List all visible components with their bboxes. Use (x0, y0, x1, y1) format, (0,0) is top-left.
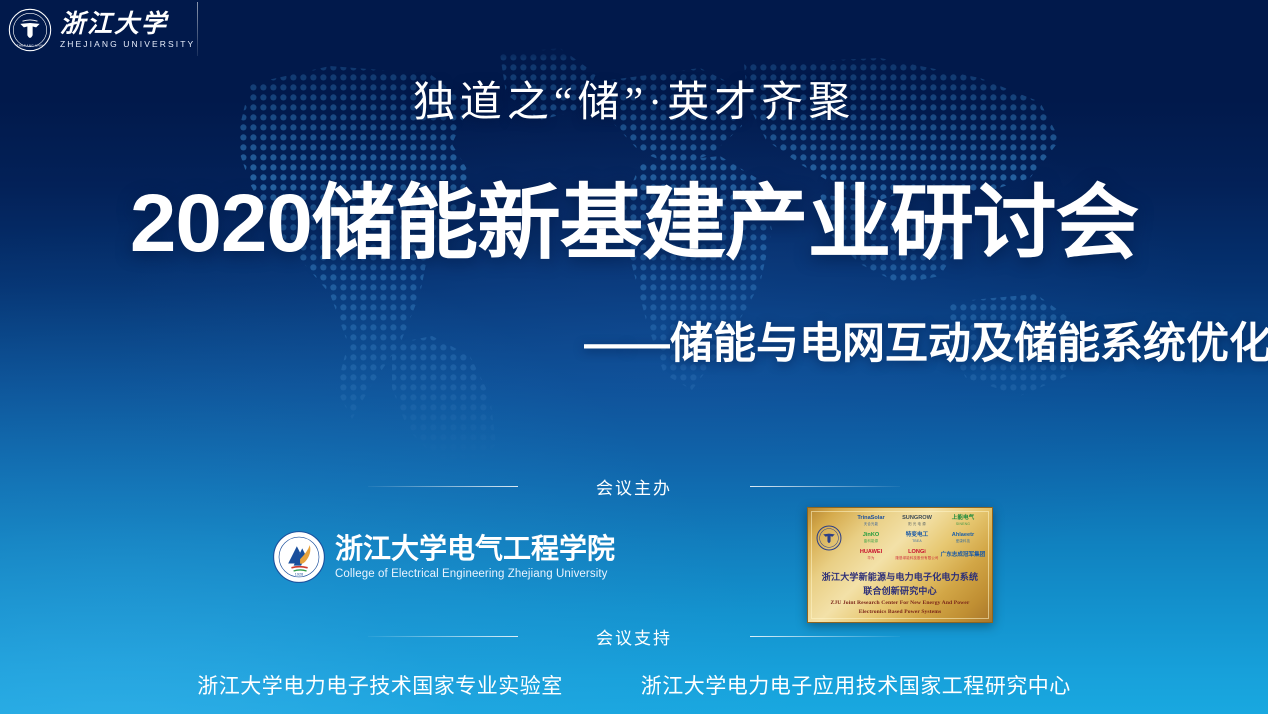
partner-sub: 晶科能源 (863, 538, 879, 544)
rule-left (368, 486, 518, 487)
hero-tagline: 独道之“储”·英才齐聚 (0, 68, 1268, 129)
college-name-en: College of Electrical Engineering Zhejia… (335, 567, 615, 581)
college-name-cn: 浙江大学电气工程学院 (335, 534, 615, 565)
partner-logo: TrinaSolar 天合光能 (857, 515, 884, 527)
rule-left (368, 636, 518, 637)
plaque-en-line1: ZJU Joint Research Center For New Energy… (808, 600, 992, 606)
college-seal-icon: 1928 (272, 530, 326, 584)
logo-divider (197, 2, 198, 56)
host-college-logo: 1928 浙江大学电气工程学院 College of Electrical En… (272, 528, 622, 586)
partner-logo: Ahlaeetr 爱康科技 (952, 532, 974, 544)
partner-logo: SUNGROW 阳 光 电 源 (902, 515, 932, 527)
plaque-partner-logos: TrinaSolar 天合光能 SUNGROW 阳 光 电 源 上能电气 SIN… (814, 513, 986, 563)
plaque-en-line2: Electronics Based Power Systems (808, 609, 992, 615)
support-section-label: 会议支持 (596, 624, 672, 649)
partner-sub: 隆基绿能科技股份有限公司 (895, 555, 938, 561)
partner-sub: 华为 (860, 555, 882, 561)
supporter-item: 浙江大学电力电子应用技术国家工程研究中心 (641, 670, 1071, 700)
partner-sub: TBEA (906, 538, 928, 544)
svg-text:1928: 1928 (295, 572, 303, 576)
partner-sub: 爱康科技 (952, 538, 974, 544)
partner-logo: 广东志成冠军集团 (941, 552, 986, 558)
university-name-cn: 浙江大学 (60, 11, 195, 38)
partner-sub: 阳 光 电 源 (902, 521, 932, 527)
hero-title: 2020储能新基建产业研讨会 (0, 176, 1268, 272)
host-section-header: 会议主办 (0, 474, 1268, 498)
partner-sub: 天合光能 (857, 521, 884, 527)
hero-subtitle: ——储能与电网互动及储能系统优化 (512, 318, 1268, 370)
partner-logo: 特变电工 TBEA (906, 532, 928, 544)
conference-poster: ZHEJIANG UNIV 浙江大学 ZHEJIANG UNIVERSITY 独… (0, 0, 1268, 714)
rule-right (750, 486, 900, 487)
university-name-en: ZHEJIANG UNIVERSITY (60, 39, 195, 50)
supporter-list: 浙江大学电力电子技术国家专业实验室 浙江大学电力电子应用技术国家工程研究中心 (0, 670, 1268, 700)
partner-sub: SINENG (952, 521, 974, 527)
partner-name: 广东志成冠军集团 (941, 552, 986, 558)
university-seal-icon: ZHEJIANG UNIV (8, 8, 52, 52)
partner-logo-grid: TrinaSolar 天合光能 SUNGROW 阳 光 电 源 上能电气 SIN… (848, 513, 986, 563)
zju-seal-icon (816, 525, 842, 551)
rule-right (750, 636, 900, 637)
supporter-item: 浙江大学电力电子技术国家专业实验室 (197, 670, 563, 700)
partner-logo: JinKO 晶科能源 (863, 532, 879, 544)
host-section-label: 会议主办 (596, 474, 672, 499)
partner-logo: 上能电气 SINENG (952, 515, 974, 527)
partner-logo: HUAWEI 华为 (860, 549, 882, 561)
plaque-title-line2: 联合创新研究中心 (808, 584, 992, 597)
support-section-header: 会议支持 (0, 624, 1268, 648)
plaque-title-line1: 浙江大学新能源与电力电子化电力系统 (808, 570, 992, 583)
svg-text:ZHEJIANG UNIV: ZHEJIANG UNIV (17, 44, 45, 48)
partner-logo: LONGi 隆基绿能科技股份有限公司 (895, 549, 938, 561)
university-logo: ZHEJIANG UNIV 浙江大学 ZHEJIANG UNIVERSITY (8, 6, 198, 54)
joint-research-center-plaque: TrinaSolar 天合光能 SUNGROW 阳 光 电 源 上能电气 SIN… (807, 507, 993, 623)
